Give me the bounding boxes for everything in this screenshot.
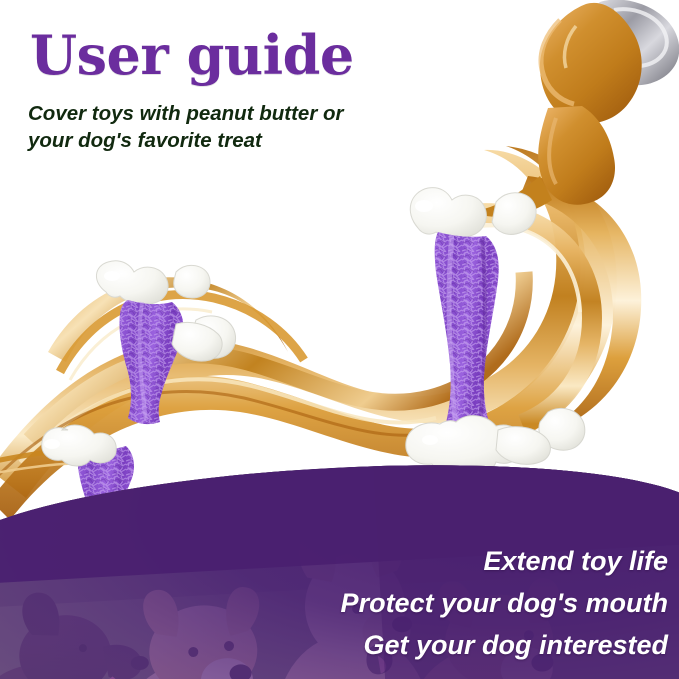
subtitle-line-2: your dog's favorite treat	[28, 127, 428, 154]
infographic-canvas: User guide Cover toys with peanut butter…	[0, 0, 679, 679]
benefit-item-2: Protect your dog's mouth	[341, 588, 668, 619]
spoon-with-peanut-butter	[470, 0, 679, 217]
page-subtitle: Cover toys with peanut butter or your do…	[28, 100, 428, 154]
subtitle-line-1: Cover toys with peanut butter or	[28, 100, 428, 127]
benefit-item-3: Get your dog interested	[363, 630, 668, 661]
page-title: User guide	[30, 25, 354, 85]
benefits-banner: Extend toy life Protect your dog's mouth…	[0, 447, 679, 679]
benefit-list: Extend toy life Protect your dog's mouth…	[0, 468, 679, 679]
benefit-item-1: Extend toy life	[483, 546, 668, 577]
